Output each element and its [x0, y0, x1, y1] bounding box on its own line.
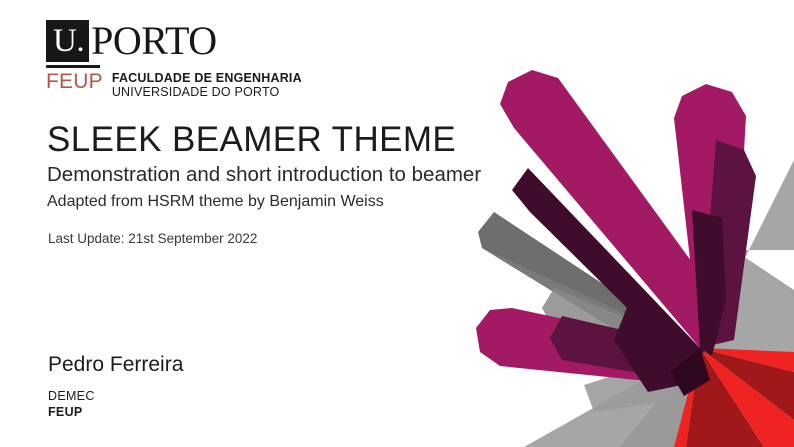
faculty-name-line: FACULDADE DE ENGENHARIA	[112, 71, 302, 85]
author-institution: FEUP	[48, 404, 183, 420]
uporto-feup-logo: U. PORTO FEUP FACULDADE DE ENGENHARIA UN…	[46, 20, 346, 99]
logo-bottom-row: FEUP FACULDADE DE ENGENHARIA UNIVERSIDAD…	[46, 71, 346, 99]
faculty-lines: FACULDADE DE ENGENHARIA UNIVERSIDADE DO …	[112, 71, 302, 99]
author-department: DEMEC	[48, 388, 183, 404]
title-block: SLEEK BEAMER THEME Demonstration and sho…	[47, 120, 487, 213]
university-name-line: UNIVERSIDADE DO PORTO	[112, 85, 302, 99]
last-update-text: Last Update: 21st September 2022	[48, 230, 257, 248]
feup-pinwheel-star-graphic	[434, 0, 794, 447]
author-name: Pedro Ferreira	[48, 351, 183, 378]
logo-top-row: U. PORTO	[46, 20, 346, 62]
feup-wordmark: FEUP	[46, 71, 103, 92]
page-attribution: Adapted from HSRM theme by Benjamin Weis…	[47, 191, 487, 213]
logo-divider-rule	[46, 65, 100, 68]
author-block: Pedro Ferreira DEMEC FEUP	[48, 351, 183, 420]
porto-wordmark: PORTO	[91, 20, 217, 62]
graphic-gray-layer	[478, 160, 794, 447]
graphic-red-layer	[674, 348, 794, 447]
graphic-magenta-arms	[476, 70, 756, 396]
u-box-mark: U.	[46, 20, 89, 62]
page-subtitle: Demonstration and short introduction to …	[47, 162, 487, 188]
title-slide: U. PORTO FEUP FACULDADE DE ENGENHARIA UN…	[0, 0, 794, 447]
page-title: SLEEK BEAMER THEME	[47, 120, 487, 160]
